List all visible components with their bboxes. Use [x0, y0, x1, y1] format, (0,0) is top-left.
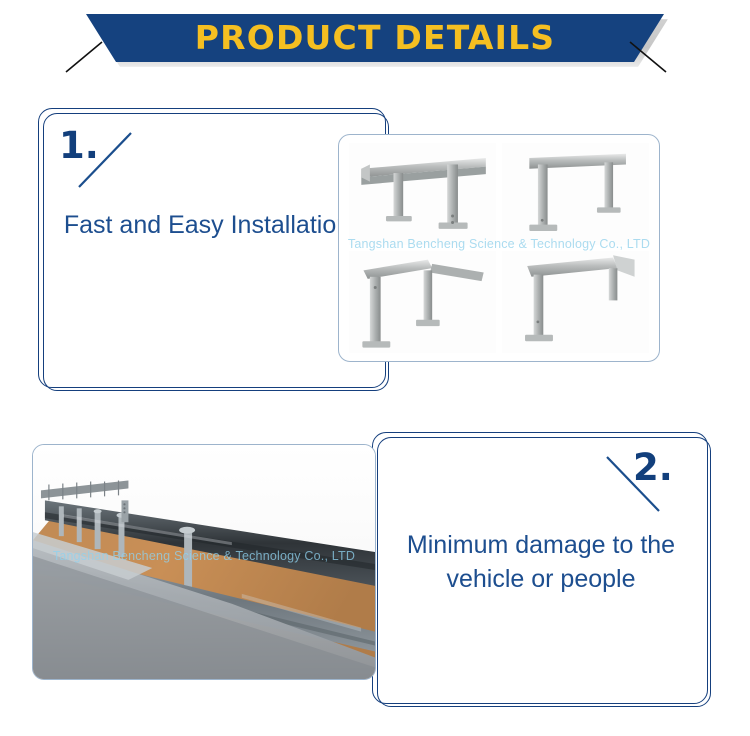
parts-photo-grid	[343, 139, 655, 357]
banner-tail-left-icon	[64, 42, 104, 74]
feature-text-2: Minimum damage to the vehicle or people	[393, 529, 689, 597]
feature-card-2: 2. Minimum damage to the vehicle or peop…	[372, 432, 708, 704]
page-title: PRODUCT DETAILS	[195, 21, 556, 56]
marker-slash-icon	[59, 125, 155, 197]
guardrail-photo	[33, 445, 375, 679]
installed-guardrail-image-panel: Tangshan Bencheng Science & Technology C…	[32, 444, 376, 680]
feature-text-1: Fast and Easy Installation	[57, 209, 357, 243]
product-parts-image-panel: Tangshan Bencheng Science & Technology C…	[338, 134, 660, 362]
banner: PRODUCT DETAILS	[86, 14, 664, 62]
banner-ribbon: PRODUCT DETAILS	[86, 14, 664, 62]
parts-photo	[502, 143, 649, 245]
parts-photo	[349, 143, 496, 245]
parts-photo	[349, 251, 496, 353]
banner-tail-right-icon	[628, 42, 668, 74]
feature-marker-2: 2.	[585, 447, 681, 519]
feature-marker-1: 1.	[59, 125, 155, 197]
feature-number-2: 2.	[633, 449, 673, 486]
product-details-page: PRODUCT DETAILS 1. Fast and Easy Install…	[0, 0, 750, 736]
feature-card-1: 1. Fast and Easy Installation	[38, 108, 386, 388]
parts-photo	[502, 251, 649, 353]
